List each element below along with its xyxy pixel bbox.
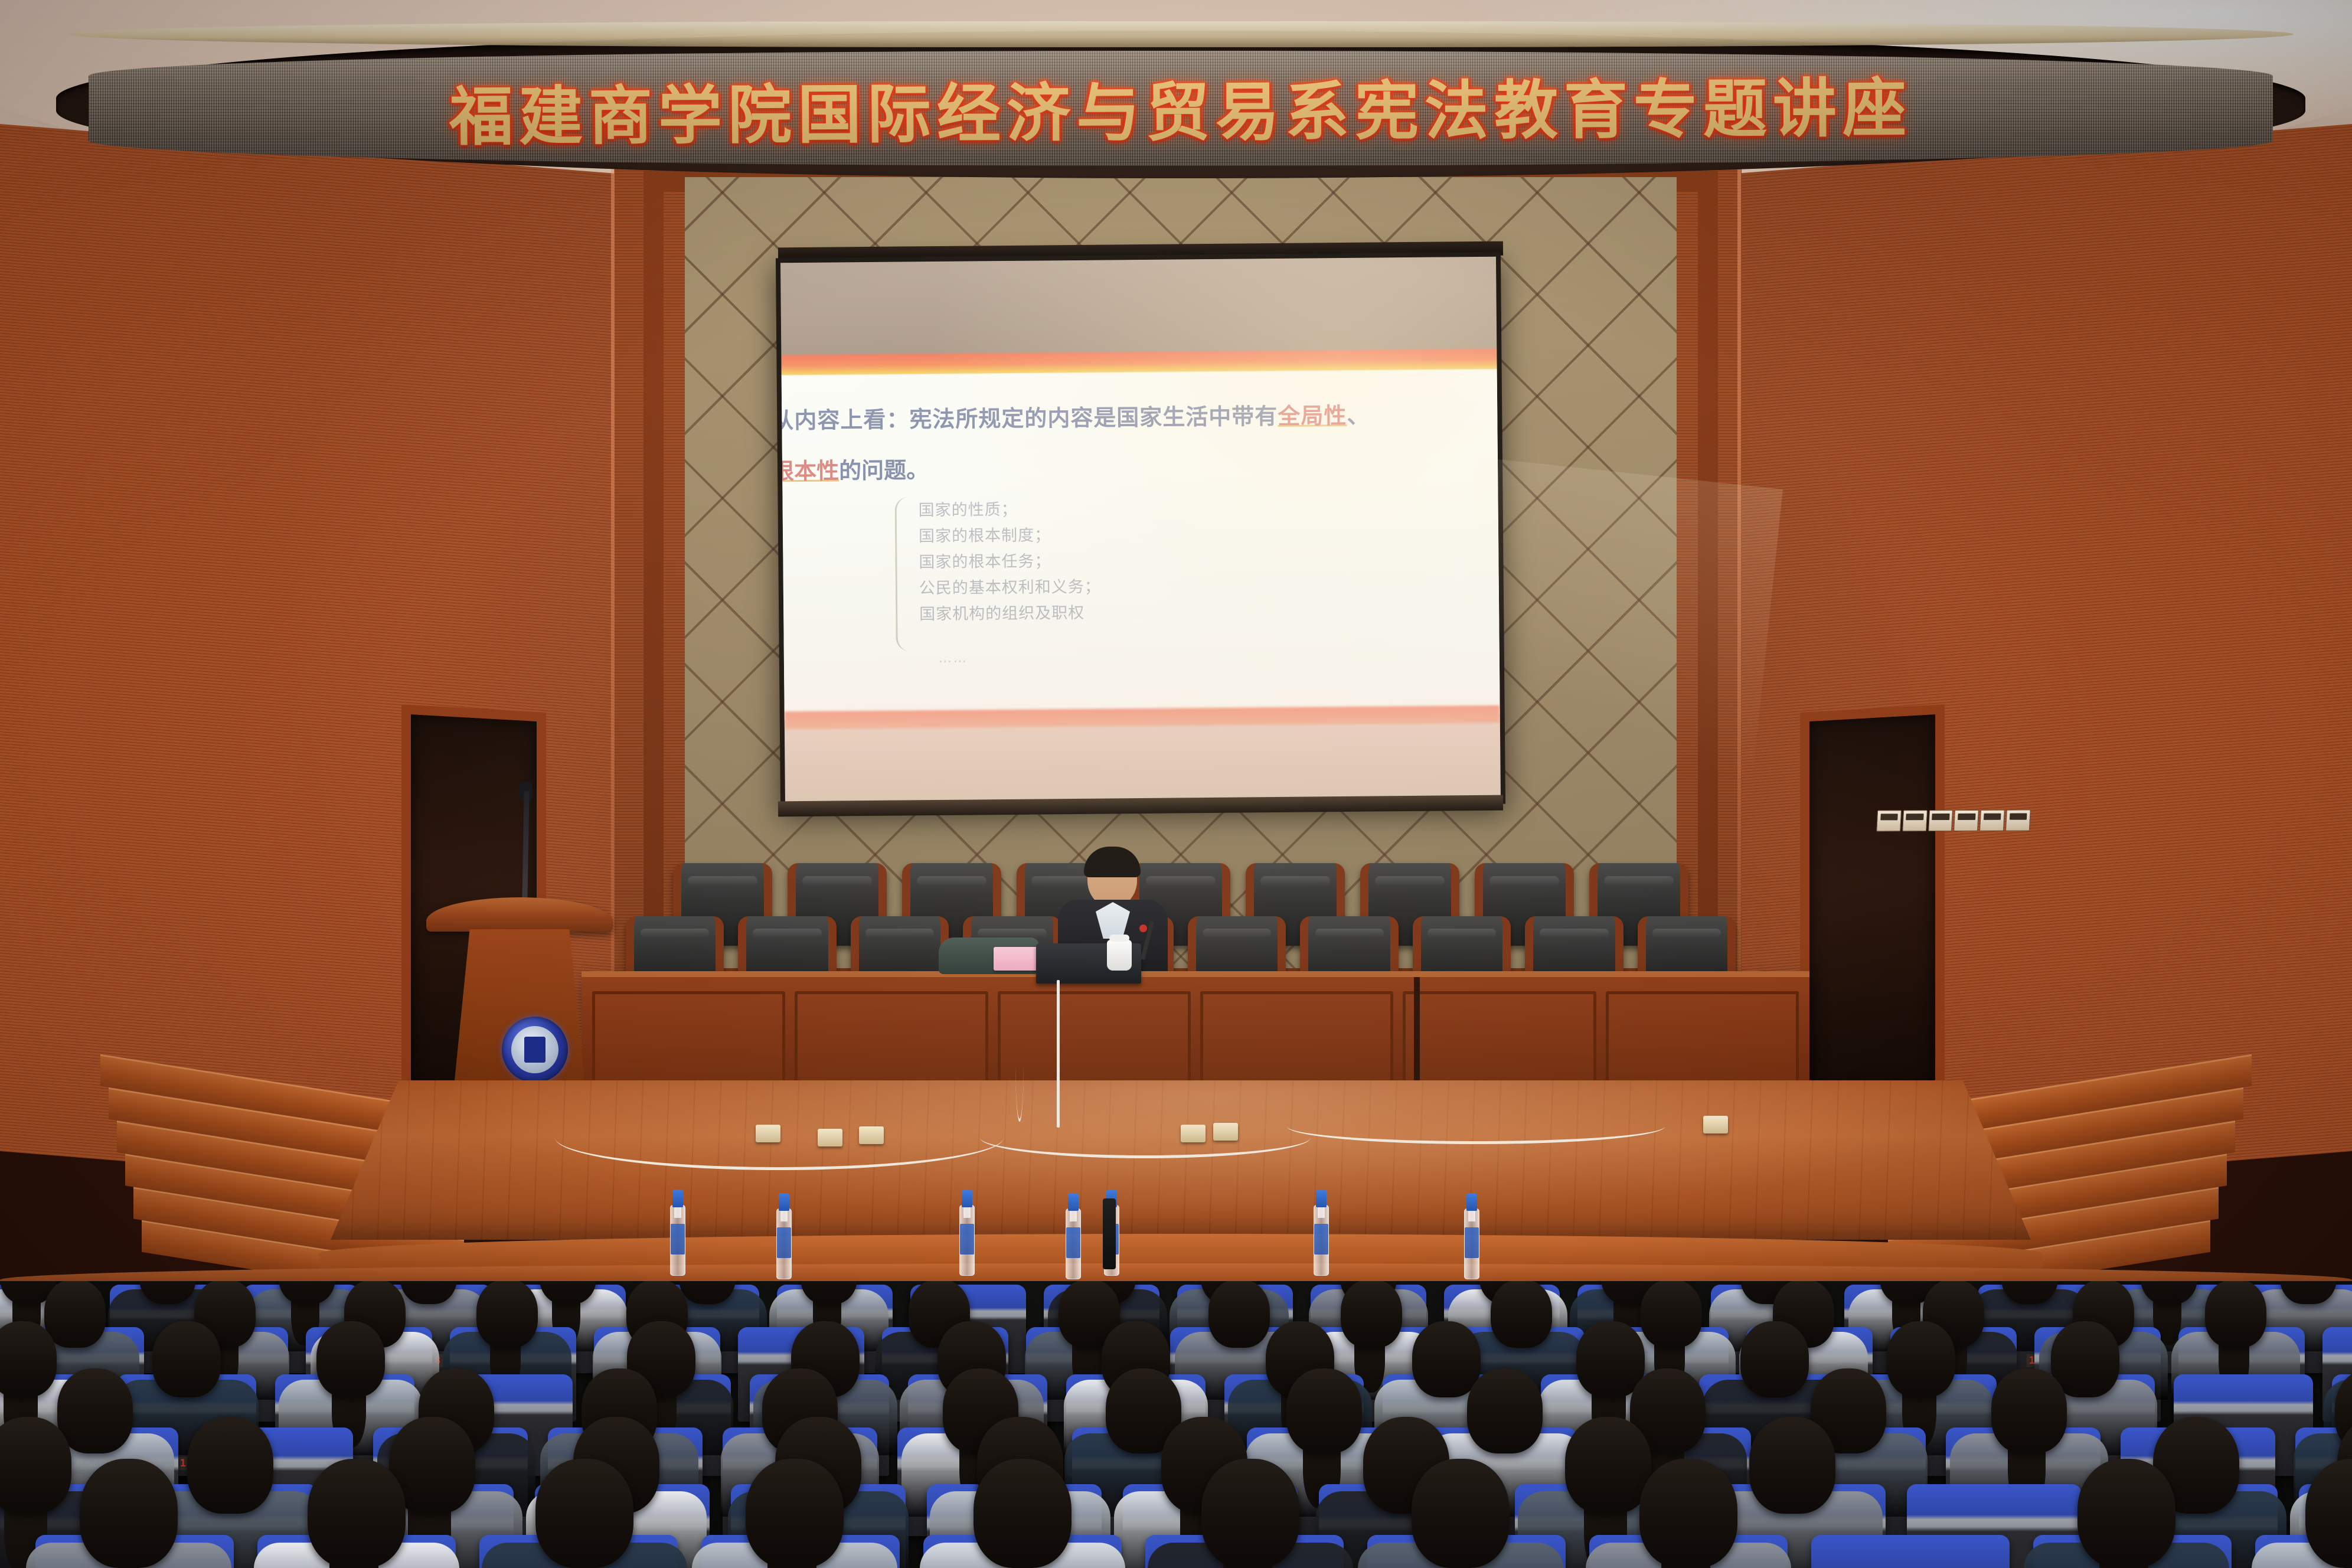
podium-body — [452, 929, 587, 1104]
power-cable — [1287, 1109, 1665, 1144]
speaker-lapel-pin — [1139, 925, 1147, 932]
led-screen: 福建商学院国际经济与贸易系宪法教育专题讲座 — [89, 51, 2273, 166]
bottle-cap — [1316, 1190, 1327, 1207]
water-bottle — [776, 1193, 792, 1279]
auditorium-photo: 从内容上看：宪法所规定的内容是国家生活中带有全局性、 根本性的问题。 国家的性质… — [0, 0, 2352, 1568]
banner-title-text: 福建商学院国际经济与贸易系宪法教育专题讲座 — [89, 55, 2273, 161]
wall-switch[interactable] — [1902, 810, 1928, 831]
audience-member-head — [2205, 1281, 2266, 1348]
bottle-cap — [779, 1193, 789, 1211]
list-item: 国家机构的组织及职权 — [919, 600, 1101, 628]
audience-member-head — [308, 1459, 406, 1568]
water-bottle — [670, 1190, 685, 1276]
bottle-label — [1314, 1224, 1328, 1255]
bottle-label — [960, 1224, 974, 1255]
power-strip — [1703, 1116, 1728, 1133]
list-item: 国家的根本制度； — [919, 522, 1100, 550]
audience-member-head — [974, 1459, 1072, 1568]
bottle-cap — [1068, 1193, 1079, 1211]
audience-member-head — [1641, 1281, 1702, 1348]
audience-member-head — [1749, 1417, 1835, 1514]
slide-heading-mid: 、 — [1347, 403, 1370, 429]
power-strip — [859, 1126, 884, 1144]
audience-member-head — [0, 1417, 71, 1514]
power-strip — [1181, 1125, 1206, 1142]
slide-heading-suffix: 的问题。 — [839, 457, 929, 484]
audience-member-head — [535, 1459, 633, 1568]
bottle-cap — [672, 1190, 683, 1207]
podium — [437, 897, 602, 1104]
bottle-label — [1066, 1227, 1080, 1258]
audience-member-head — [746, 1459, 844, 1568]
presentation-slide: 从内容上看：宪法所规定的内容是国家生活中带有全局性、 根本性的问题。 国家的性质… — [780, 257, 1501, 805]
audience-member-head — [1491, 1281, 1552, 1348]
projection-screen: 从内容上看：宪法所规定的内容是国家生活中带有全局性、 根本性的问题。 国家的性质… — [776, 252, 1505, 811]
university-crest-icon — [502, 1017, 568, 1083]
door-right[interactable] — [1800, 704, 1945, 1102]
slide-heading-line1: 从内容上看：宪法所规定的内容是国家生活中带有全局性、 — [780, 396, 1501, 435]
wall-switch[interactable] — [1979, 810, 2005, 831]
audience-member-head — [152, 1321, 221, 1398]
water-bottle — [1314, 1190, 1329, 1276]
bottle-label — [1465, 1227, 1479, 1258]
audience-seating: 1318171413181817141318181714131818171413… — [0, 1281, 2352, 1568]
wall-switch[interactable] — [2005, 810, 2031, 831]
bottle-label — [777, 1227, 791, 1258]
wall-switch-panel[interactable] — [1876, 810, 2031, 832]
mic-drop-cable — [1057, 980, 1060, 1128]
auditorium-seat[interactable] — [1811, 1535, 2010, 1568]
list-item: 国家的性质； — [918, 496, 1100, 524]
audience-member-head — [1565, 1417, 1651, 1514]
wall-switch[interactable] — [1954, 810, 1979, 831]
floor-microphone — [1103, 1198, 1116, 1269]
audience-member-head — [2077, 1459, 2175, 1568]
power-strip — [818, 1129, 842, 1146]
water-bottle — [1464, 1193, 1479, 1279]
audience-member-head — [1412, 1321, 1481, 1398]
audience-member-head — [1576, 1321, 1645, 1398]
audience-member-head — [476, 1281, 538, 1348]
list-item: 国家的根本任务； — [919, 548, 1100, 576]
audience-member-head — [57, 1368, 133, 1453]
audience-member-head — [0, 1321, 57, 1398]
slide-ellipsis: …… — [939, 651, 968, 666]
audience-member-head — [1740, 1321, 1809, 1398]
audience-member-head — [1467, 1368, 1543, 1453]
water-bottle — [1066, 1193, 1081, 1279]
wall-switch[interactable] — [1876, 810, 1902, 831]
wall-switch[interactable] — [1928, 810, 1954, 831]
led-banner: 福建商学院国际经济与贸易系宪法教育专题讲座 — [56, 65, 2305, 174]
audience-member-head — [44, 1281, 106, 1348]
speaker-hair — [1084, 847, 1141, 877]
list-item: 公民的基本权利和义务； — [919, 574, 1101, 602]
audience-member-head — [1208, 1281, 1270, 1348]
audience-member-head — [1201, 1459, 1299, 1568]
mug — [1107, 940, 1132, 971]
water-bottle — [959, 1190, 975, 1276]
audience-member-head — [1639, 1459, 1737, 1568]
power-cable — [980, 1117, 1311, 1158]
audience-member-head — [187, 1417, 273, 1514]
wall-seam-left — [611, 142, 615, 1098]
audience-member-head — [1991, 1368, 2067, 1453]
slide-heading-highlight: 全局性 — [1278, 403, 1347, 429]
audience-member-head — [316, 1321, 385, 1398]
wall-seam-right — [1737, 142, 1741, 1098]
banner-top-lip — [68, 21, 2294, 47]
audience-member-head — [1412, 1459, 1510, 1568]
power-strip — [1213, 1123, 1238, 1141]
power-strip — [756, 1125, 780, 1142]
slide-heading-prefix: 从内容上看：宪法所规定的内容是国家生活中带有 — [780, 403, 1278, 433]
slide-bullet-list: 国家的性质； 国家的根本制度； 国家的根本任务； 公民的基本权利和义务； 国家机… — [918, 496, 1101, 628]
bottle-label — [671, 1224, 685, 1255]
audience-member-head — [1341, 1281, 1402, 1348]
podium-top — [426, 897, 613, 932]
audience-member-head — [80, 1459, 178, 1568]
slide-heading-highlight2: 根本性 — [780, 458, 839, 484]
bottle-cap — [1466, 1193, 1477, 1211]
bottle-cap — [962, 1190, 972, 1207]
stage-floor — [331, 1080, 2031, 1240]
audience-member-head — [1887, 1321, 1955, 1398]
slide-heading-line2: 根本性的问题。 — [780, 447, 1501, 486]
audience-member-head — [1286, 1368, 1362, 1453]
power-cable — [1015, 1004, 1024, 1122]
